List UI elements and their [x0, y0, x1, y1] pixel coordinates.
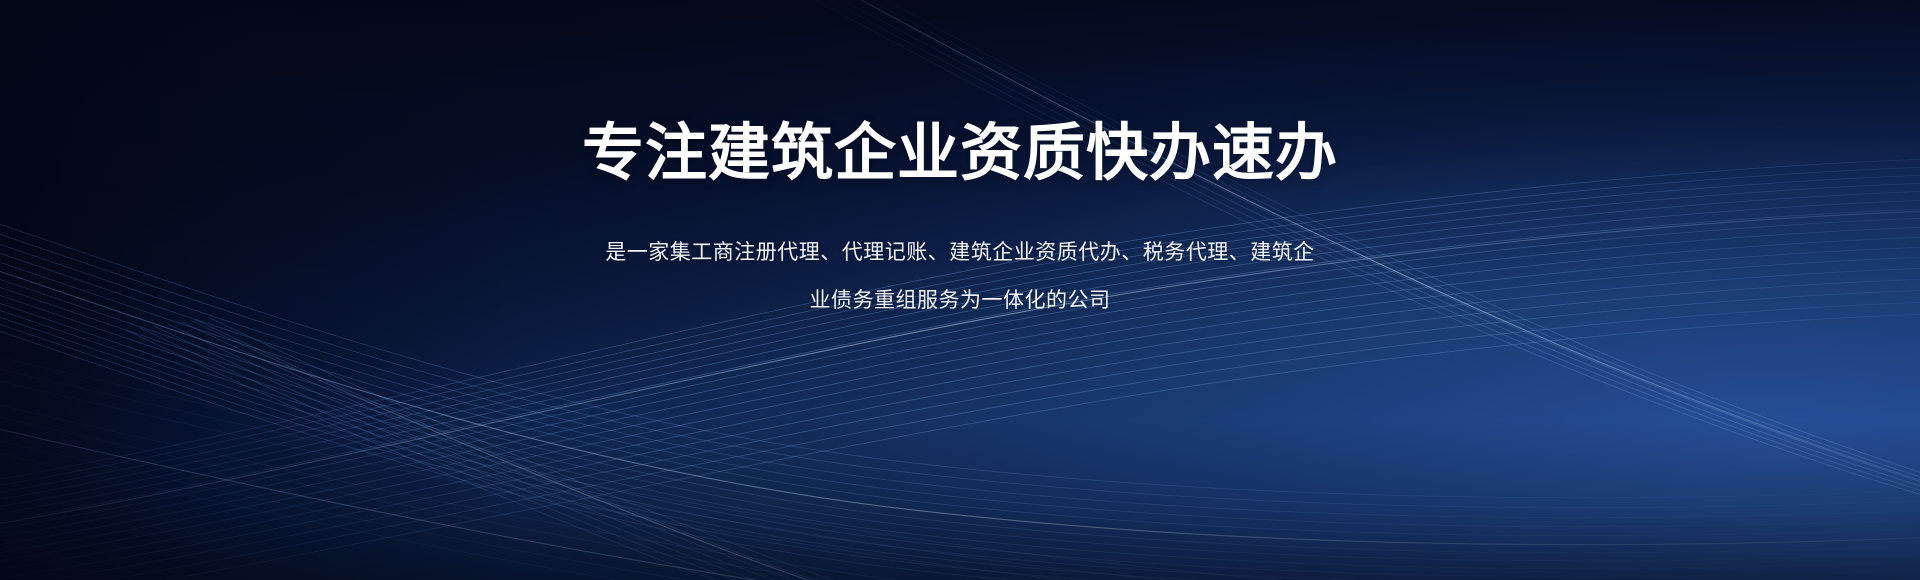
hero-banner: 专注建筑企业资质快办速办 是一家集工商注册代理、代理记账、建筑企业资质代办、税务…: [0, 0, 1920, 580]
hero-headline: 专注建筑企业资质快办速办: [582, 123, 1338, 185]
hero-subtitle-line-2: 业债务重组服务为一体化的公司: [602, 277, 1318, 325]
hero-subtitle-line-1: 是一家集工商注册代理、代理记账、建筑企业资质代办、税务代理、建筑企: [602, 229, 1318, 277]
hero-subtitle: 是一家集工商注册代理、代理记账、建筑企业资质代办、税务代理、建筑企 业债务重组服…: [602, 229, 1318, 325]
hero-content: 专注建筑企业资质快办速办 是一家集工商注册代理、代理记账、建筑企业资质代办、税务…: [0, 0, 1920, 580]
